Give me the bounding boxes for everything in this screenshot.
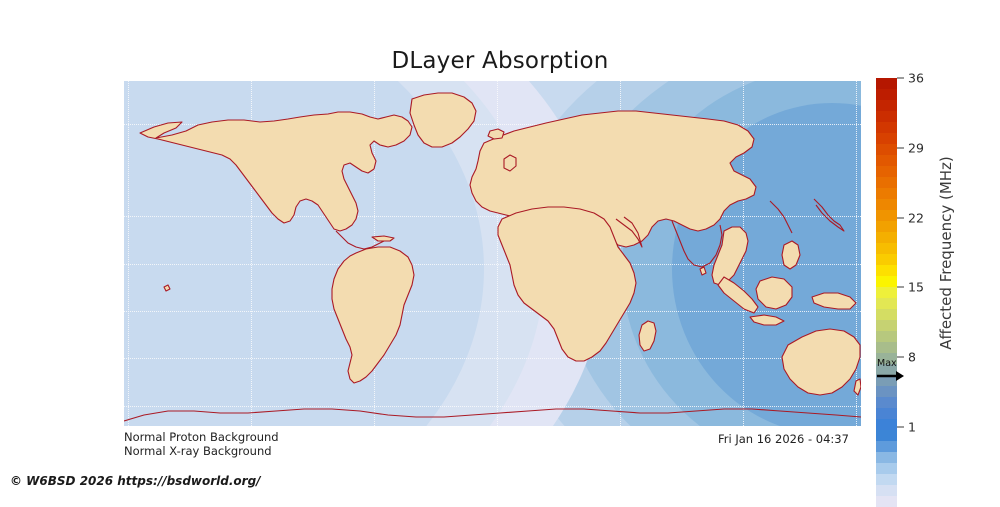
- landmass-hawaii: [164, 285, 170, 291]
- colorbar-axis-label: Affected Frequency (MHz): [934, 78, 958, 427]
- world-map: [124, 81, 861, 426]
- colorbar-tick-label: 8: [908, 350, 916, 365]
- copyright-notice: © W6BSD 2026 https://bsdworld.org/: [10, 474, 261, 488]
- landmass-southeast-asia: [712, 227, 748, 285]
- timestamp: Fri Jan 16 2026 - 04:37: [718, 432, 849, 446]
- colorbar-tick-label: 22: [908, 210, 924, 225]
- landmass-north-america: [140, 112, 412, 231]
- coastlines: [124, 81, 861, 426]
- coastline-antarctica: [124, 409, 861, 421]
- coastline-east-asia: [770, 201, 792, 233]
- landmass-sri-lanka: [700, 267, 706, 275]
- colorbar-tick-dash: [897, 427, 904, 428]
- landmass-madagascar: [639, 321, 656, 351]
- coastline-japan: [814, 199, 844, 231]
- landmass-sumatra: [718, 277, 758, 313]
- landmass-iceland: [488, 129, 504, 139]
- colorbar-max-label: Max: [877, 358, 897, 369]
- proton-background-note: Normal Proton Background: [124, 430, 279, 444]
- colorbar-tick-dash: [897, 217, 904, 218]
- colorbar-tick-label: 15: [908, 280, 924, 295]
- dlayer-absorption-figure: DLayer Absorption: [0, 0, 1000, 500]
- colorbar-tick-label: 1: [908, 420, 916, 435]
- colorbar-tick-dash: [897, 78, 904, 79]
- colorbar-tick-label: 36: [908, 71, 924, 86]
- page-title: DLayer Absorption: [0, 48, 1000, 74]
- landmass-new-guinea: [812, 293, 856, 309]
- landmass-greenland: [410, 93, 476, 147]
- landmass-south-america: [332, 247, 414, 383]
- landmass-australia: [782, 329, 860, 395]
- colorbar-tick-dash: [897, 287, 904, 288]
- landmass-borneo: [756, 277, 792, 309]
- colorbar-tick-label: 29: [908, 140, 924, 155]
- xray-background-note: Normal X-ray Background: [124, 444, 272, 458]
- landmass-new-zealand: [854, 379, 861, 395]
- colorbar-tick-dash: [897, 147, 904, 148]
- landmass-caribbean: [372, 236, 394, 241]
- colorbar-axis-label-text: Affected Frequency (MHz): [937, 156, 955, 350]
- landmass-java: [750, 315, 784, 325]
- colorbar-tick-dash: [897, 357, 904, 358]
- landmass-philippines: [782, 241, 800, 269]
